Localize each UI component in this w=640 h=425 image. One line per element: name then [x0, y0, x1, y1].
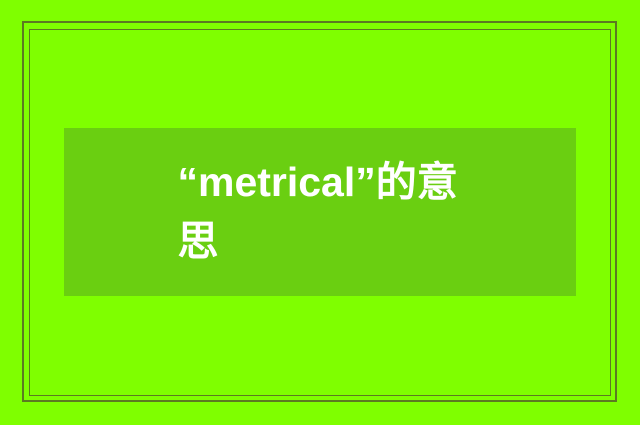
page-title: “metrical”的意思	[178, 153, 463, 272]
page-canvas: “metrical”的意思	[0, 0, 640, 425]
content-panel: “metrical”的意思	[64, 128, 576, 296]
